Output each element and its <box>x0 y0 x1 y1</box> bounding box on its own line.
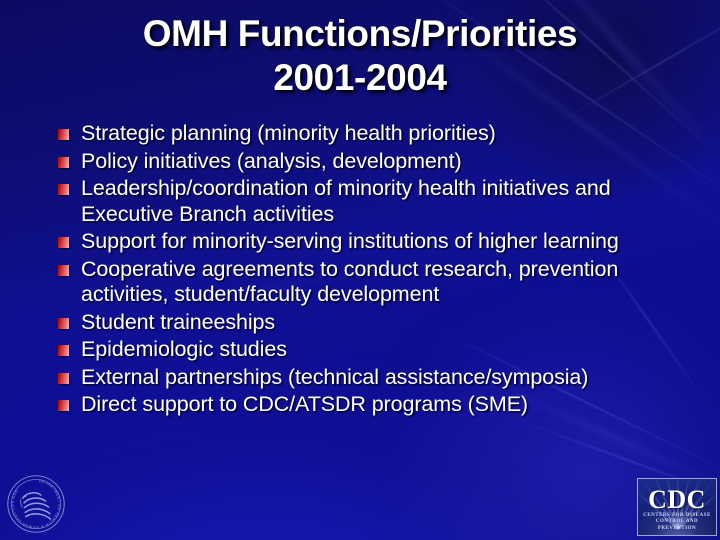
cdc-tagline: CENTERS FOR DISEASE CONTROL AND PREVENTI… <box>638 513 716 533</box>
list-item-label: Epidemiologic studies <box>81 337 287 363</box>
list-item: Strategic planning (minority health prio… <box>58 121 708 147</box>
red-square-bullet-icon <box>58 318 69 329</box>
red-square-bullet-icon <box>58 345 69 356</box>
cdc-tagline-line-2: CONTROL AND PREVENTION <box>638 519 716 532</box>
red-square-bullet-icon <box>58 400 69 411</box>
red-square-bullet-icon <box>58 265 69 276</box>
presentation-slide: OMH Functions/Priorities2001-2004 Strate… <box>0 0 720 540</box>
red-square-bullet-icon <box>58 129 69 140</box>
red-square-bullet-icon <box>58 184 69 195</box>
hhs-seal-icon: DEPARTMENT OF HEALTH & HUMAN SERVICES US… <box>6 474 66 534</box>
list-item: Support for minority-serving institution… <box>58 229 708 255</box>
list-item-label: Policy initiatives (analysis, developmen… <box>81 149 462 175</box>
bullet-list: Strategic planning (minority health prio… <box>58 121 708 420</box>
slide-title: OMH Functions/Priorities2001-2004 <box>0 12 720 100</box>
slide-title-line-2: 2001-2004 <box>0 56 720 100</box>
list-item: Policy initiatives (analysis, developmen… <box>58 149 708 175</box>
list-item-label: Direct support to CDC/ATSDR programs (SM… <box>81 392 528 418</box>
list-item: Direct support to CDC/ATSDR programs (SM… <box>58 392 708 418</box>
cdc-wordmark: CDC <box>638 486 716 514</box>
list-item-label: Leadership/coordination of minority heal… <box>81 176 708 227</box>
red-square-bullet-icon <box>58 373 69 384</box>
list-item: Epidemiologic studies <box>58 337 708 363</box>
list-item-label: Strategic planning (minority health prio… <box>81 121 496 147</box>
list-item: Cooperative agreements to conduct resear… <box>58 257 708 308</box>
red-square-bullet-icon <box>58 237 69 248</box>
list-item-label: Support for minority-serving institution… <box>81 229 619 255</box>
list-item-label: External partnerships (technical assista… <box>81 365 588 391</box>
cdc-logo-icon: CDC CENTERS FOR DISEASE CONTROL AND PREV… <box>637 478 717 536</box>
red-square-bullet-icon <box>58 157 69 168</box>
list-item: Leadership/coordination of minority heal… <box>58 176 708 227</box>
list-item-label: Student traineeships <box>81 310 275 336</box>
list-item: Student traineeships <box>58 310 708 336</box>
slide-title-line-1: OMH Functions/Priorities <box>143 13 577 54</box>
list-item-label: Cooperative agreements to conduct resear… <box>81 257 708 308</box>
list-item: External partnerships (technical assista… <box>58 365 708 391</box>
